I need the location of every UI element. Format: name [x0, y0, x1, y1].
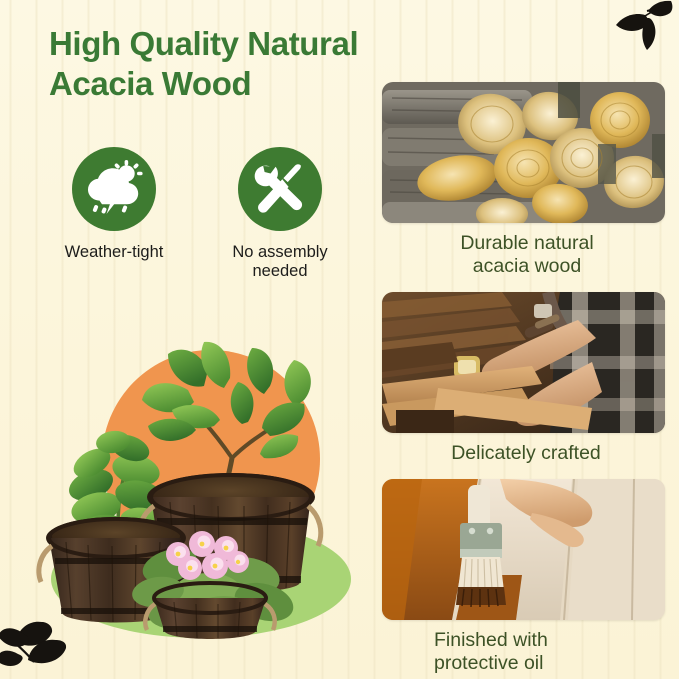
feature-weather-tight: Weather-tight	[44, 147, 184, 282]
caption-line-1: Finished with	[434, 629, 548, 651]
feature-badge-circle	[238, 147, 322, 231]
card-delicately-crafted: Delicately crafted	[382, 292, 668, 465]
card-caption: Finished with protective oil	[382, 629, 668, 675]
card-protective-oil: Finished with protective oil	[382, 479, 668, 675]
brush-applying-oil-photo	[382, 479, 665, 620]
leaf-sprig-icon-bottom-left	[0, 606, 82, 677]
feature-badge-circle	[72, 147, 156, 231]
feature-label-line-2: needed	[252, 262, 307, 280]
stacked-logs-photo	[382, 82, 665, 223]
caption-line-2: acacia wood	[473, 255, 581, 277]
feature-label-line-1: No assembly	[232, 243, 327, 261]
wooden-barrel-planters-illustration	[18, 330, 368, 650]
infographic-page: High Quality Natural Acacia Wood	[0, 0, 679, 679]
card-caption: Durable natural acacia wood	[382, 232, 668, 278]
feature-no-assembly: No assembly needed	[210, 147, 350, 282]
feature-badge-list: Weather-tight No assembly needed	[44, 147, 374, 282]
craftsman-woodworking-photo	[382, 292, 665, 433]
hero-product-image	[18, 330, 368, 650]
caption-line-2: protective oil	[434, 652, 543, 674]
caption-line-1: Durable natural	[460, 232, 593, 254]
card-caption: Delicately crafted	[382, 442, 668, 465]
card-durable-acacia-wood: Durable natural acacia wood	[382, 82, 668, 278]
feature-label: No assembly needed	[232, 243, 327, 282]
title-line-2: Acacia Wood	[49, 64, 389, 104]
title-line-1: High Quality Natural	[49, 25, 358, 62]
page-title: High Quality Natural Acacia Wood	[49, 24, 389, 105]
wrench-screwdriver-icon	[253, 160, 307, 219]
caption-line-1: Delicately crafted	[451, 442, 601, 464]
leaf-sprig-icon-top-right	[601, 0, 675, 65]
feature-label: Weather-tight	[65, 243, 164, 262]
feature-card-list: Durable natural acacia wood	[382, 82, 668, 679]
cloud-sun-lightning-icon	[85, 160, 143, 219]
feature-label-line-1: Weather-tight	[65, 243, 164, 261]
